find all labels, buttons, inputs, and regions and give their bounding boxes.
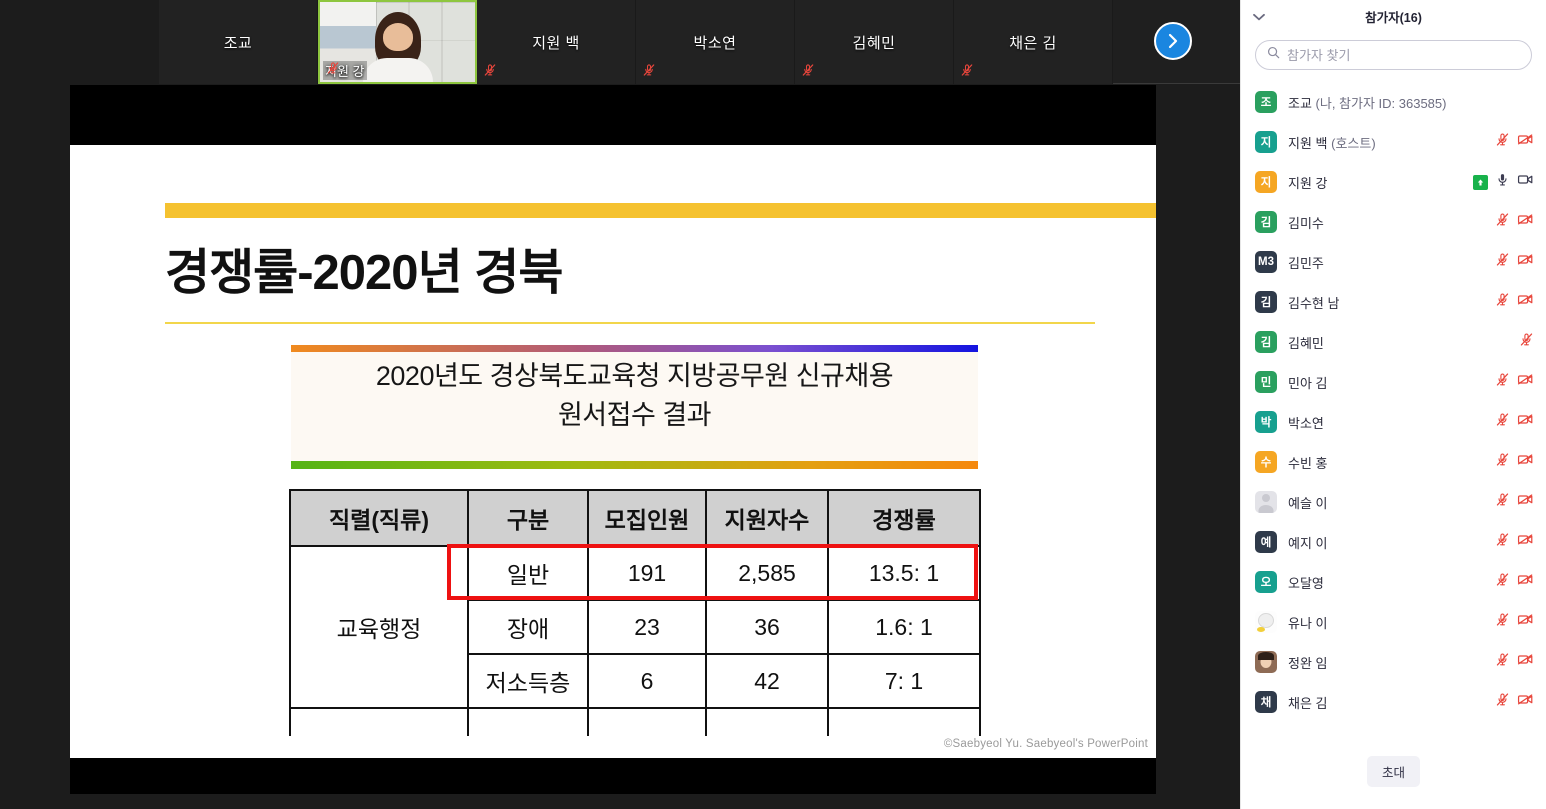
participant-name: 예지 이 <box>1288 533 1489 552</box>
table-cell <box>468 708 588 736</box>
table-cell: 36 <box>706 600 828 654</box>
participant-name: 김수현 남 <box>1288 293 1489 312</box>
heading-line-1: 2020년도 경상북도교육청 지방공무원 신규채용 <box>291 357 978 396</box>
video-on-icon[interactable] <box>1517 172 1534 192</box>
mic-muted-icon <box>1495 292 1510 307</box>
table-cell <box>588 708 706 736</box>
filmstrip-tile-지원 백[interactable]: 지원 백 <box>477 0 636 84</box>
avatar: M3 <box>1255 251 1277 273</box>
mic-muted-icon <box>326 61 340 75</box>
participant-display-name: 김미수 <box>1288 216 1324 231</box>
video-off-icon <box>1517 532 1534 547</box>
participant-row[interactable]: 지지원 강 <box>1241 162 1546 202</box>
filmstrip-tile-채은 김[interactable]: 채은 김 <box>954 0 1113 84</box>
participant-status-icons <box>1495 212 1534 232</box>
avatar: 오 <box>1255 571 1277 593</box>
table-cell: 1.6: 1 <box>828 600 980 654</box>
participant-row[interactable]: 예예지 이 <box>1241 522 1546 562</box>
table-header-row: 직렬(직류) 구분 모집인원 지원자수 경쟁률 <box>290 490 980 546</box>
arrow-up-icon <box>1476 178 1485 187</box>
mic-muted-icon[interactable] <box>1495 212 1510 232</box>
video-off-icon[interactable] <box>1517 252 1534 272</box>
avatar: 조 <box>1255 91 1277 113</box>
video-off-icon[interactable] <box>1517 572 1534 592</box>
participant-row[interactable]: 김김미수 <box>1241 202 1546 242</box>
participant-status-icons <box>1495 252 1534 272</box>
participant-display-name: 지원 강 <box>1288 176 1328 191</box>
video-on-icon <box>1517 172 1534 187</box>
presentation-slide: 경쟁률-2020년 경북 2020년도 경상북도교육청 지방공무원 신규채용 원… <box>70 145 1156 758</box>
table-cell: 7: 1 <box>828 654 980 708</box>
avatar: 예 <box>1255 531 1277 553</box>
avatar: 김 <box>1255 331 1277 353</box>
mic-muted-icon[interactable] <box>1495 692 1510 712</box>
participant-name: 오달영 <box>1288 573 1489 592</box>
participant-name: 조교 (나, 참가자 ID: 363585) <box>1288 93 1528 112</box>
participant-name: 수빈 홍 <box>1288 453 1489 472</box>
table-cell: 일반 <box>468 546 588 600</box>
slide-accent-bar <box>165 203 1156 218</box>
participant-name: 김민주 <box>1288 253 1489 272</box>
participant-status-icons <box>1495 572 1534 592</box>
table-series-cell: 교육행정 <box>290 546 468 708</box>
participant-filmstrip[interactable]: 조교지원 강 지원 백 박소연 김혜민 채은 김 <box>0 0 1240 84</box>
mic-muted-icon <box>801 63 815 77</box>
avatar: 지 <box>1255 131 1277 153</box>
chevron-right-icon <box>1164 32 1182 50</box>
search-input[interactable] <box>1287 48 1520 63</box>
slide-heading-box: 2020년도 경상북도교육청 지방공무원 신규채용 원서접수 결과 <box>291 345 978 469</box>
mic-muted-icon[interactable] <box>1495 412 1510 432</box>
search-box[interactable] <box>1255 40 1532 70</box>
video-off-icon <box>1517 492 1534 507</box>
participant-name: 김미수 <box>1288 213 1489 232</box>
avatar: 민 <box>1255 371 1277 393</box>
video-off-icon[interactable] <box>1517 132 1534 152</box>
participant-row[interactable]: 지지원 백 (호스트) <box>1241 122 1546 162</box>
participant-name: 지원 백 (호스트) <box>1288 133 1489 152</box>
participant-row[interactable]: 채채은 김 <box>1241 682 1546 722</box>
video-off-icon <box>1517 612 1534 627</box>
mic-muted-icon[interactable] <box>1495 532 1510 552</box>
participant-name: 박소연 <box>1288 413 1489 432</box>
mic-muted-icon[interactable] <box>1519 332 1534 352</box>
table-header-cell: 구분 <box>468 490 588 546</box>
participant-row[interactable]: 김김혜민 <box>1241 322 1546 362</box>
participant-row[interactable]: 정완 임 <box>1241 642 1546 682</box>
participant-row[interactable]: 박박소연 <box>1241 402 1546 442</box>
mic-on-icon <box>1495 172 1510 187</box>
participant-display-name: 정완 임 <box>1288 656 1328 671</box>
heading-gradient-bottom <box>291 461 978 469</box>
video-off-icon <box>1517 412 1534 427</box>
competition-ratio-table: 직렬(직류) 구분 모집인원 지원자수 경쟁률 교육행정 일반 191 2,58 <box>289 489 981 736</box>
mic-muted-icon[interactable] <box>1495 252 1510 272</box>
table-cell: 23 <box>588 600 706 654</box>
search-icon <box>1267 46 1280 64</box>
filmstrip-tile-박소연[interactable]: 박소연 <box>636 0 795 84</box>
slide-heading-text: 2020년도 경상북도교육청 지방공무원 신규채용 원서접수 결과 <box>291 357 978 435</box>
filmstrip-next-button[interactable] <box>1154 22 1192 60</box>
video-off-icon[interactable] <box>1517 292 1534 312</box>
table-cell <box>290 708 468 736</box>
mic-muted-icon[interactable] <box>1495 292 1510 312</box>
filmstrip-tile-empty <box>0 0 159 84</box>
participant-display-name: 오달영 <box>1288 576 1324 591</box>
participant-meta: (나, 참가자 ID: 363585) <box>1312 96 1447 111</box>
mic-muted-icon <box>801 63 814 79</box>
video-off-icon[interactable] <box>1517 212 1534 232</box>
table-cell: 2,585 <box>706 546 828 600</box>
table-cell: 42 <box>706 654 828 708</box>
video-off-icon[interactable] <box>1517 492 1534 512</box>
heading-line-2: 원서접수 결과 <box>291 396 978 435</box>
participant-display-name: 유나 이 <box>1288 616 1328 631</box>
mic-muted-icon[interactable] <box>1495 612 1510 632</box>
table-header-cell: 지원자수 <box>706 490 828 546</box>
mic-muted-icon <box>1495 412 1510 427</box>
mic-muted-icon[interactable] <box>1495 492 1510 512</box>
table-header-cell: 직렬(직류) <box>290 490 468 546</box>
video-off-icon <box>1517 692 1534 707</box>
mic-muted-icon <box>326 61 339 77</box>
mic-muted-icon <box>483 63 496 79</box>
mic-muted-icon[interactable] <box>1495 372 1510 392</box>
participant-display-name: 민아 김 <box>1288 376 1328 391</box>
participants-panel-header: 참가자(16) <box>1241 0 1546 33</box>
participant-name: 정완 임 <box>1288 653 1489 672</box>
avatar <box>1255 491 1277 513</box>
screen-share-badge <box>1473 175 1488 190</box>
participant-name: 유나 이 <box>1288 613 1489 632</box>
mic-muted-icon[interactable] <box>1495 652 1510 672</box>
mic-muted-icon <box>1495 692 1510 707</box>
mic-muted-icon <box>1495 452 1510 467</box>
mic-muted-icon[interactable] <box>1495 572 1510 592</box>
participants-panel: 참가자(16) 조조교 (나, 참가자 ID: 363585)지지원 백 (호스… <box>1240 0 1546 809</box>
video-off-icon <box>1517 212 1534 227</box>
slide-title: 경쟁률-2020년 경북 <box>165 233 562 304</box>
participant-name: 예슬 이 <box>1288 493 1489 512</box>
mic-muted-icon <box>1495 572 1510 587</box>
slide-watermark: ©Saebyeol Yu. Saebyeol's PowerPoint <box>944 738 1148 750</box>
mic-muted-icon <box>960 63 973 79</box>
filmstrip-tile-label: 박소연 <box>694 32 737 53</box>
mic-muted-icon <box>1495 492 1510 507</box>
mic-muted-icon <box>960 63 974 77</box>
participant-status-icons <box>1495 492 1534 512</box>
heading-gradient-top <box>291 345 978 352</box>
zoom-meeting-window: 조교지원 강 지원 백 박소연 김혜민 채은 김 <box>0 0 1546 809</box>
video-off-icon <box>1517 652 1534 667</box>
participant-display-name: 수빈 홍 <box>1288 456 1328 471</box>
participant-display-name: 채은 김 <box>1288 696 1328 711</box>
participant-meta: (호스트) <box>1328 136 1376 151</box>
participant-display-name: 박소연 <box>1288 416 1324 431</box>
participant-row[interactable]: 김김수현 남 <box>1241 282 1546 322</box>
mic-muted-icon <box>1495 132 1510 147</box>
video-off-icon <box>1517 132 1534 147</box>
avatar <box>1255 611 1277 633</box>
video-off-icon <box>1517 572 1534 587</box>
participant-row[interactable]: 수수빈 홍 <box>1241 442 1546 482</box>
avatar: 박 <box>1255 411 1277 433</box>
participant-status-icons <box>1495 132 1534 152</box>
mic-muted-icon <box>483 63 497 77</box>
table-header-cell: 경쟁률 <box>828 490 980 546</box>
video-off-icon[interactable] <box>1517 612 1534 632</box>
participant-display-name: 예지 이 <box>1288 536 1328 551</box>
participant-name: 채은 김 <box>1288 693 1489 712</box>
avatar: 김 <box>1255 291 1277 313</box>
mic-muted-icon[interactable] <box>1495 132 1510 152</box>
participant-status-icons <box>1495 612 1534 632</box>
table-header-cell: 모집인원 <box>588 490 706 546</box>
invite-button[interactable]: 초대 <box>1367 756 1420 787</box>
filmstrip-tile-label: 조교 <box>224 32 253 53</box>
participant-display-name: 예슬 이 <box>1288 496 1328 511</box>
video-off-icon[interactable] <box>1517 372 1534 392</box>
shared-screen[interactable]: 경쟁률-2020년 경북 2020년도 경상북도교육청 지방공무원 신규채용 원… <box>70 85 1156 794</box>
filmstrip-tile-조교[interactable]: 조교 <box>159 0 318 84</box>
participant-status-icons <box>1495 452 1534 472</box>
mic-muted-icon <box>1495 532 1510 547</box>
participant-display-name: 김수현 남 <box>1288 296 1339 311</box>
participant-status-icons <box>1473 172 1534 192</box>
participant-name: 김혜민 <box>1288 333 1513 352</box>
table-cell <box>706 708 828 736</box>
mic-muted-icon[interactable] <box>1495 452 1510 472</box>
table-row-clipped <box>290 708 980 736</box>
filmstrip-tile-김혜민[interactable]: 김혜민 <box>795 0 954 84</box>
table-row: 교육행정 일반 191 2,585 13.5: 1 <box>290 546 980 600</box>
avatar: 채 <box>1255 691 1277 713</box>
video-off-icon <box>1517 452 1534 467</box>
filmstrip-tile-label: 채은 김 <box>1009 32 1057 53</box>
participant-row[interactable]: 조조교 (나, 참가자 ID: 363585) <box>1241 82 1546 122</box>
participant-row[interactable]: 민민아 김 <box>1241 362 1546 402</box>
mic-muted-icon <box>1495 652 1510 667</box>
table-cell: 6 <box>588 654 706 708</box>
participant-display-name: 조교 <box>1288 96 1312 111</box>
mic-muted-icon <box>642 63 655 79</box>
participants-list[interactable]: 조조교 (나, 참가자 ID: 363585)지지원 백 (호스트) 지지원 강… <box>1241 80 1546 733</box>
mic-muted-icon <box>642 63 656 77</box>
video-off-icon[interactable] <box>1517 452 1534 472</box>
participant-name: 민아 김 <box>1288 373 1489 392</box>
filmstrip-tile-label: 김혜민 <box>853 32 896 53</box>
mic-muted-icon <box>1495 612 1510 627</box>
participant-row[interactable]: M3김민주 <box>1241 242 1546 282</box>
table-cell: 13.5: 1 <box>828 546 980 600</box>
participants-count-title: 참가자(16) <box>1241 7 1546 26</box>
video-person-body <box>363 58 433 82</box>
participant-row[interactable]: 오오달영 <box>1241 562 1546 602</box>
participant-name: 지원 강 <box>1288 173 1467 192</box>
video-off-icon <box>1517 252 1534 267</box>
participant-row[interactable]: 예슬 이 <box>1241 482 1546 522</box>
participant-display-name: 지원 백 <box>1288 136 1328 151</box>
participant-row[interactable]: 유나 이 <box>1241 602 1546 642</box>
mic-muted-icon <box>1495 212 1510 227</box>
participant-status-icons <box>1495 532 1534 552</box>
chevron-down-icon[interactable] <box>1253 8 1265 26</box>
search-container <box>1241 33 1546 80</box>
video-off-icon <box>1517 372 1534 387</box>
slide-title-rule <box>165 322 1095 324</box>
participant-status-icons <box>1495 372 1534 392</box>
mic-muted-icon <box>1495 252 1510 267</box>
filmstrip-tile-video-지원 강[interactable]: 지원 강 <box>318 0 477 84</box>
participant-display-name: 김혜민 <box>1288 336 1324 351</box>
video-off-icon <box>1517 292 1534 307</box>
filmstrip-tile-label: 지원 백 <box>532 32 580 53</box>
mic-muted-icon <box>1495 372 1510 387</box>
video-off-icon[interactable] <box>1517 692 1534 712</box>
table-cell <box>828 708 980 736</box>
avatar: 김 <box>1255 211 1277 233</box>
avatar: 수 <box>1255 451 1277 473</box>
mic-muted-icon <box>1519 332 1534 347</box>
participant-status-icons <box>1495 652 1534 672</box>
avatar: 지 <box>1255 171 1277 193</box>
video-off-icon[interactable] <box>1517 412 1534 432</box>
participant-status-icons <box>1495 412 1534 432</box>
participant-status-icons <box>1519 332 1534 352</box>
mic-on-icon[interactable] <box>1495 172 1510 192</box>
avatar <box>1255 651 1277 673</box>
participant-display-name: 김민주 <box>1288 256 1324 271</box>
table-cell: 191 <box>588 546 706 600</box>
video-off-icon[interactable] <box>1517 652 1534 672</box>
table-cell: 저소득층 <box>468 654 588 708</box>
video-off-icon[interactable] <box>1517 532 1534 552</box>
participant-status-icons <box>1495 692 1534 712</box>
meeting-stage: 조교지원 강 지원 백 박소연 김혜민 채은 김 <box>0 0 1240 809</box>
participants-panel-footer: 초대 <box>1241 733 1546 809</box>
participant-status-icons <box>1495 292 1534 312</box>
table-cell: 장애 <box>468 600 588 654</box>
